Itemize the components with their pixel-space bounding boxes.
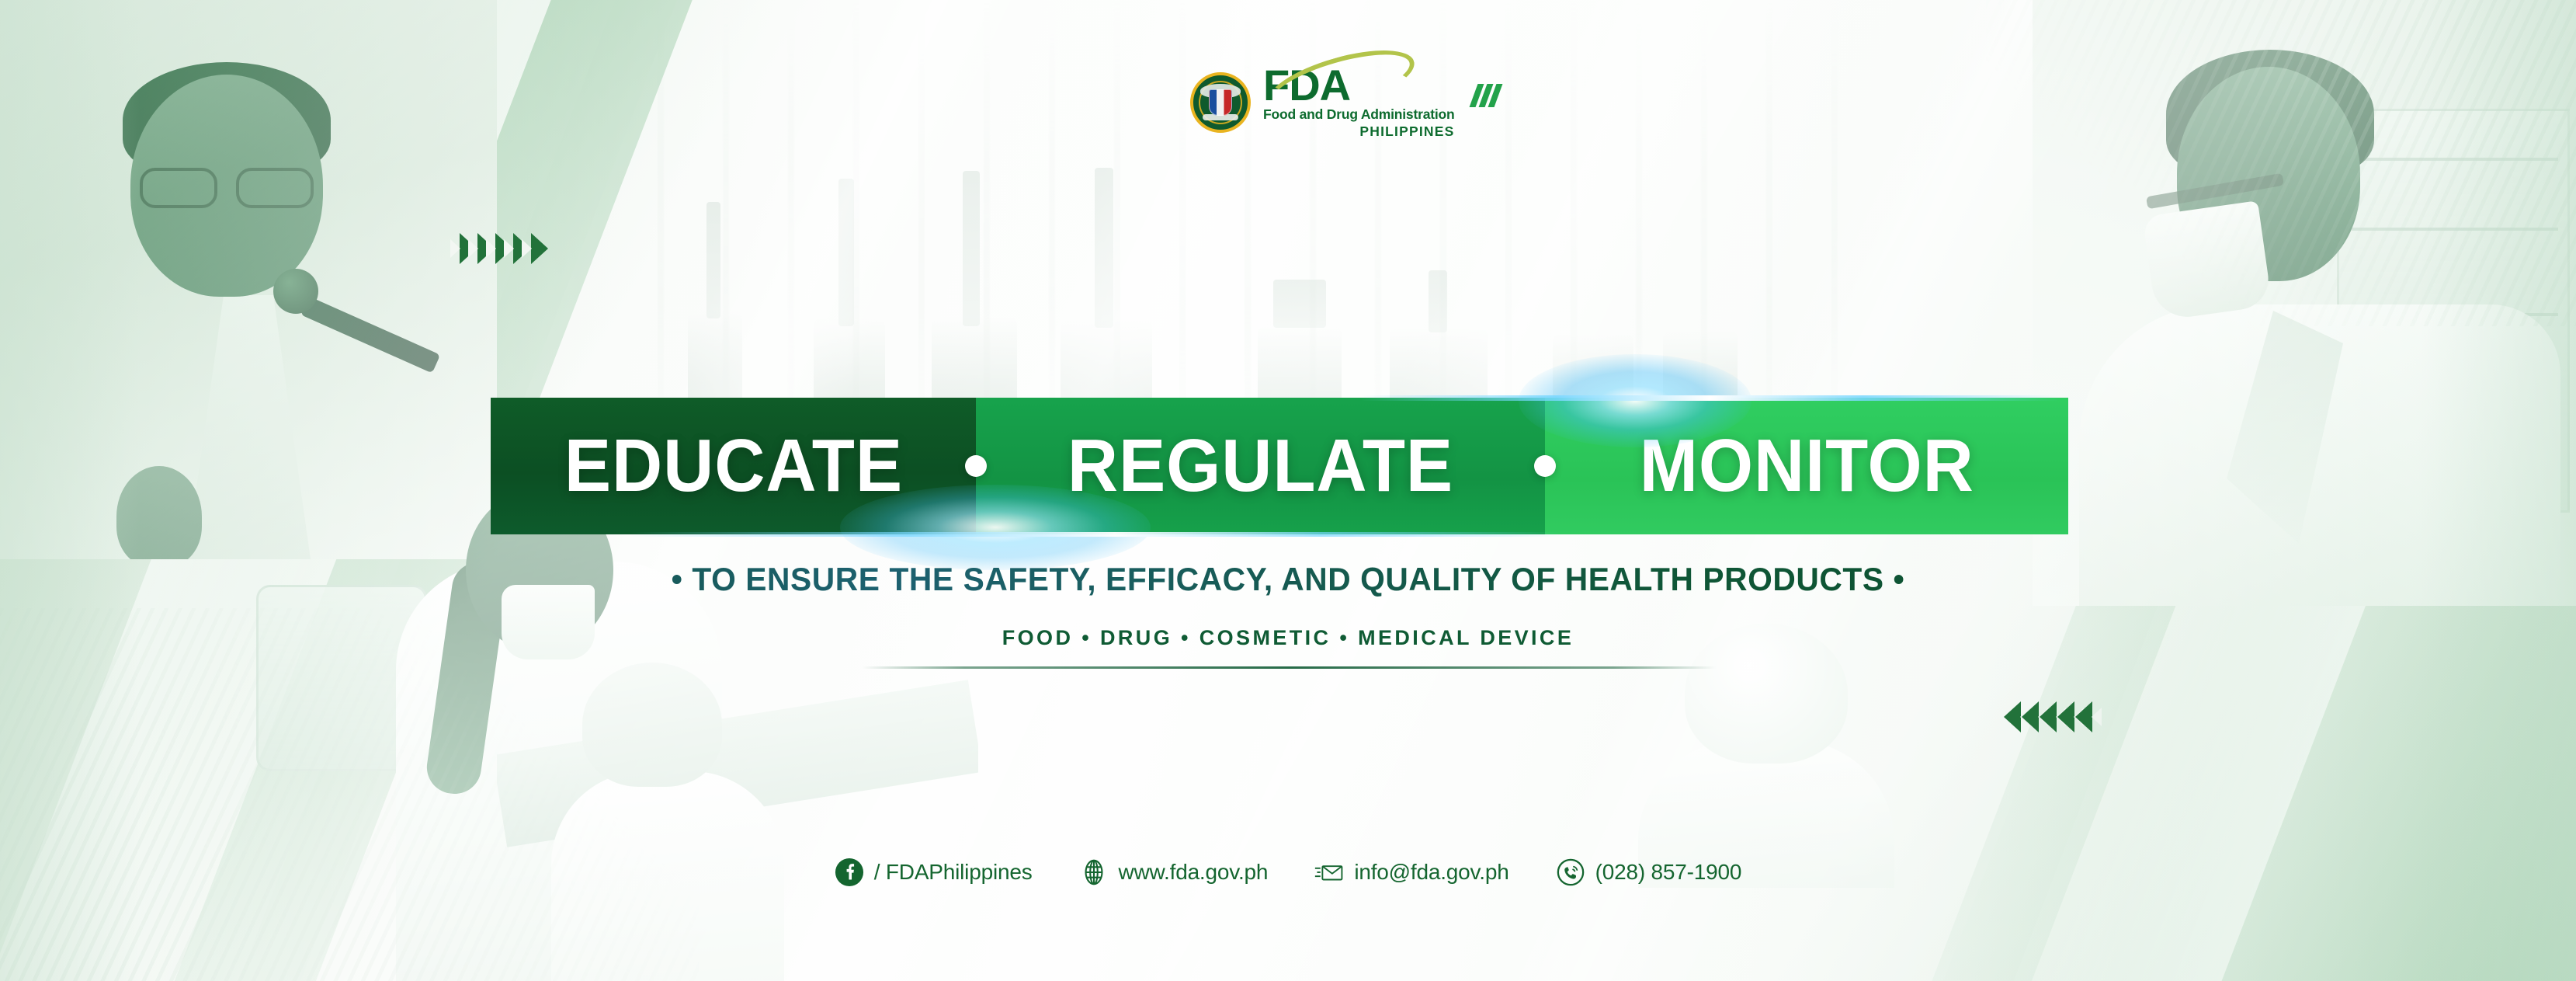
contact-phone[interactable]: (028) 857-1900	[1556, 858, 1742, 887]
facebook-icon	[835, 858, 864, 887]
hatch-texture-bottom-left	[0, 608, 699, 981]
chevron-left-icon	[2057, 701, 2074, 732]
contact-facebook[interactable]: / FDAPhilippines	[835, 858, 1033, 887]
headline-word-educate: EDUCATE	[564, 423, 902, 509]
chevron-right-icon	[531, 233, 548, 264]
envelope-icon	[1314, 858, 1344, 887]
contact-email[interactable]: info@fda.gov.ph	[1314, 858, 1508, 887]
product-categories: FOOD • DRUG • COSMETIC • MEDICAL DEVICE	[0, 626, 2576, 650]
contact-email-label: info@fda.gov.ph	[1354, 860, 1508, 885]
headline-panel-educate: EDUCATE	[491, 398, 976, 534]
phone-icon	[1556, 858, 1585, 887]
contact-website[interactable]: www.fda.gov.ph	[1079, 858, 1269, 887]
chevron-left-icon	[2075, 701, 2092, 732]
contact-facebook-label: / FDAPhilippines	[874, 860, 1033, 885]
headline-word-monitor: MONITOR	[1639, 423, 1974, 509]
photo-lab-scientist	[2033, 0, 2576, 606]
fda-banner: FDA Food and Drug Administration PHILIPP…	[0, 0, 2576, 981]
glassware-shapes	[683, 140, 1770, 435]
chevrons-right-pointing	[460, 233, 549, 264]
photo-bench-worker	[497, 655, 978, 981]
chevrons-left-pointing	[2003, 701, 2092, 732]
headline-separator-dot	[965, 455, 987, 477]
edge-vignette-right	[2421, 0, 2576, 981]
fda-country: PHILIPPINES	[1263, 123, 1455, 140]
headline-banner: EDUCATE REGULATE MONITOR	[491, 398, 2068, 534]
contact-row: / FDAPhilippines www.fda.gov.ph	[0, 858, 2576, 887]
photo-lab-technician-braid	[256, 468, 846, 981]
globe-icon	[1079, 858, 1109, 887]
contact-website-label: www.fda.gov.ph	[1119, 860, 1269, 885]
tagline: • TO ENSURE THE SAFETY, EFFICACY, AND QU…	[39, 561, 2537, 598]
headline-word-regulate: REGULATE	[1068, 423, 1453, 509]
doh-seal-icon	[1190, 72, 1251, 133]
headline-separator-dot	[1534, 455, 1556, 477]
contact-phone-label: (028) 857-1900	[1595, 860, 1742, 885]
chevron-left-icon	[2022, 701, 2039, 732]
fda-wordmark: FDA Food and Drug Administration PHILIPP…	[1263, 65, 1455, 140]
edge-vignette-left	[0, 0, 140, 981]
horizontal-divider	[862, 666, 1716, 669]
photo-hairnet-worker	[1599, 608, 1933, 888]
chevron-left-icon	[2004, 701, 2021, 732]
hatch-texture-top-right	[1986, 0, 2576, 326]
fda-logo: FDA Food and Drug Administration PHILIPP…	[1190, 65, 1455, 140]
headline-panel-regulate: REGULATE	[976, 398, 1545, 534]
fda-speed-bars-icon	[1474, 84, 1498, 107]
headline-panel-monitor: MONITOR	[1545, 398, 2068, 534]
photo-speaker-at-microphone	[0, 0, 497, 559]
chevron-left-icon	[2040, 701, 2057, 732]
